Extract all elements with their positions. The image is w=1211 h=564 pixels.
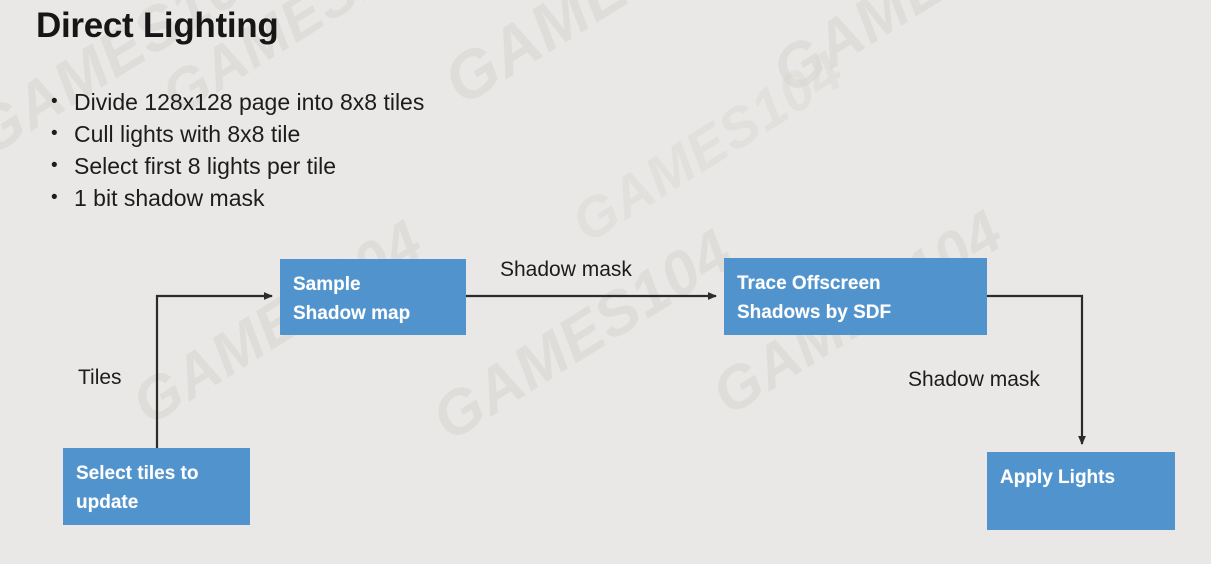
edge-label-tiles: Tiles — [78, 366, 122, 390]
edge-label-shadow-mask-1: Shadow mask — [500, 258, 632, 282]
bullet-marker-icon: • — [48, 152, 74, 179]
node-trace-offscreen-shadows-by-sdf[interactable]: Trace Offscreen Shadows by SDF — [724, 258, 987, 335]
list-item: • 1 bit shadow mask — [48, 184, 424, 216]
list-item-label: Select first 8 lights per tile — [74, 152, 336, 181]
node-apply-lights[interactable]: Apply Lights — [987, 452, 1175, 530]
node-label-line2: update — [76, 488, 250, 517]
edge-select-tiles-to-sample-shadow — [157, 296, 272, 448]
list-item-label: 1 bit shadow mask — [74, 184, 264, 213]
node-label-line1: Sample — [293, 270, 466, 299]
node-sample-shadow-map[interactable]: Sample Shadow map — [280, 259, 466, 335]
flowchart-diagram: Sample Shadow map Trace Offscreen Shadow… — [0, 0, 1211, 564]
list-item-label: Divide 128x128 page into 8x8 tiles — [74, 88, 424, 117]
node-label-line2: Shadows by SDF — [737, 298, 987, 327]
list-item: • Select first 8 lights per tile — [48, 152, 424, 184]
node-select-tiles-to-update[interactable]: Select tiles to update — [63, 448, 250, 525]
bullet-marker-icon: • — [48, 120, 74, 147]
edge-label-shadow-mask-2: Shadow mask — [908, 368, 1040, 392]
list-item-label: Cull lights with 8x8 tile — [74, 120, 300, 149]
slide-canvas: GAMES104 GAMES104 GAMES104 GAMES104 GAME… — [0, 0, 1211, 564]
list-item: • Cull lights with 8x8 tile — [48, 120, 424, 152]
node-label-line1: Apply Lights — [1000, 463, 1175, 492]
bullet-marker-icon: • — [48, 88, 74, 115]
list-item: • Divide 128x128 page into 8x8 tiles — [48, 88, 424, 120]
bullet-list: • Divide 128x128 page into 8x8 tiles • C… — [48, 88, 424, 216]
node-label-line1: Trace Offscreen — [737, 269, 987, 298]
node-label-line1: Select tiles to — [76, 459, 250, 488]
bullet-marker-icon: • — [48, 184, 74, 211]
page-title: Direct Lighting — [36, 6, 278, 46]
node-label-line2: Shadow map — [293, 299, 466, 328]
